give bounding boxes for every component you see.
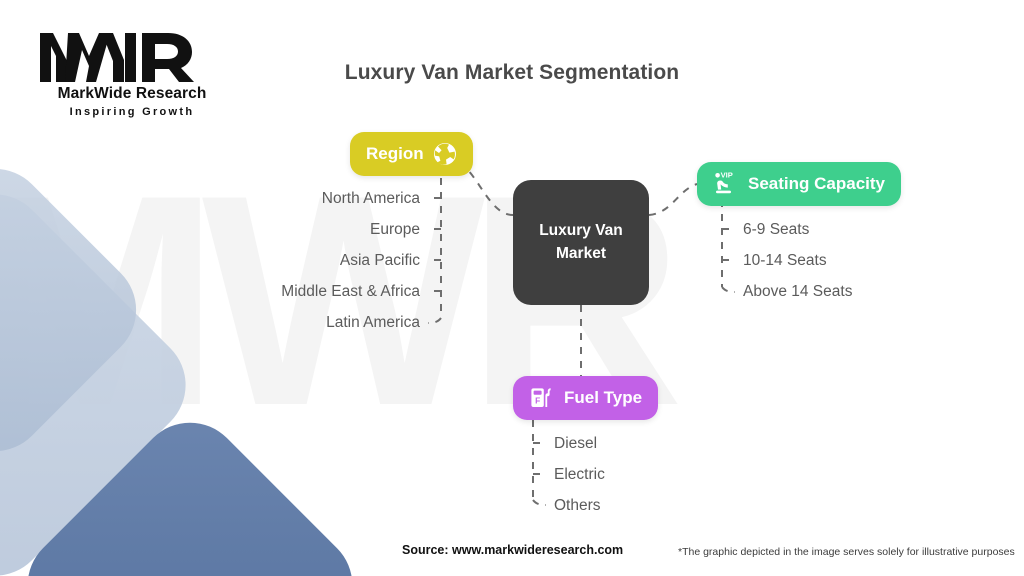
leaf-seating-6-9: 6-9 Seats: [743, 222, 809, 238]
leaf-fuel-others: Others: [554, 498, 601, 514]
fuel-pump-icon: F: [529, 385, 555, 411]
node-luxury-van-market[interactable]: Luxury Van Market: [513, 180, 649, 305]
connector-center-seating: [649, 184, 697, 215]
leaf-region-middle-east-africa: Middle East & Africa: [185, 284, 420, 300]
leaf-region-asia-pacific: Asia Pacific: [185, 253, 420, 269]
disclaimer-label: *The graphic depicted in the image serve…: [678, 546, 1015, 558]
node-seating-label: Seating Capacity: [748, 174, 885, 194]
connector-lines: [0, 0, 1024, 576]
vip-seat-icon: VIP: [713, 171, 739, 197]
segmentation-diagram: Luxury Van Market Region VIP: [0, 0, 1024, 576]
leaf-seating-10-14: 10-14 Seats: [743, 253, 827, 269]
leaf-region-europe: Europe: [185, 222, 420, 238]
node-fuel-type[interactable]: F Fuel Type: [513, 376, 658, 420]
svg-text:F: F: [535, 396, 540, 406]
leaf-fuel-diesel: Diesel: [554, 436, 597, 452]
infographic-canvas: MWR MarkWide Research Inspiring Growth L…: [0, 0, 1024, 576]
node-fuel-label: Fuel Type: [564, 388, 642, 408]
center-label-line1: Luxury Van: [539, 220, 623, 242]
node-region-label: Region: [366, 144, 424, 164]
connector-fuel-stub-2: [533, 500, 546, 505]
connector-region-stub-4: [428, 318, 441, 323]
source-label: Source: www.markwideresearch.com: [402, 543, 623, 557]
leaf-region-north-america: North America: [185, 191, 420, 207]
node-seating-capacity[interactable]: VIP Seating Capacity: [697, 162, 901, 206]
svg-text:VIP: VIP: [721, 171, 733, 180]
globe-icon: [433, 142, 457, 166]
connector-seating-stub-2: [722, 287, 735, 292]
leaf-seating-above-14: Above 14 Seats: [743, 284, 852, 300]
leaf-fuel-electric: Electric: [554, 467, 605, 483]
node-region[interactable]: Region: [350, 132, 473, 176]
center-label-line2: Market: [556, 243, 606, 265]
leaf-region-latin-america: Latin America: [185, 315, 420, 331]
